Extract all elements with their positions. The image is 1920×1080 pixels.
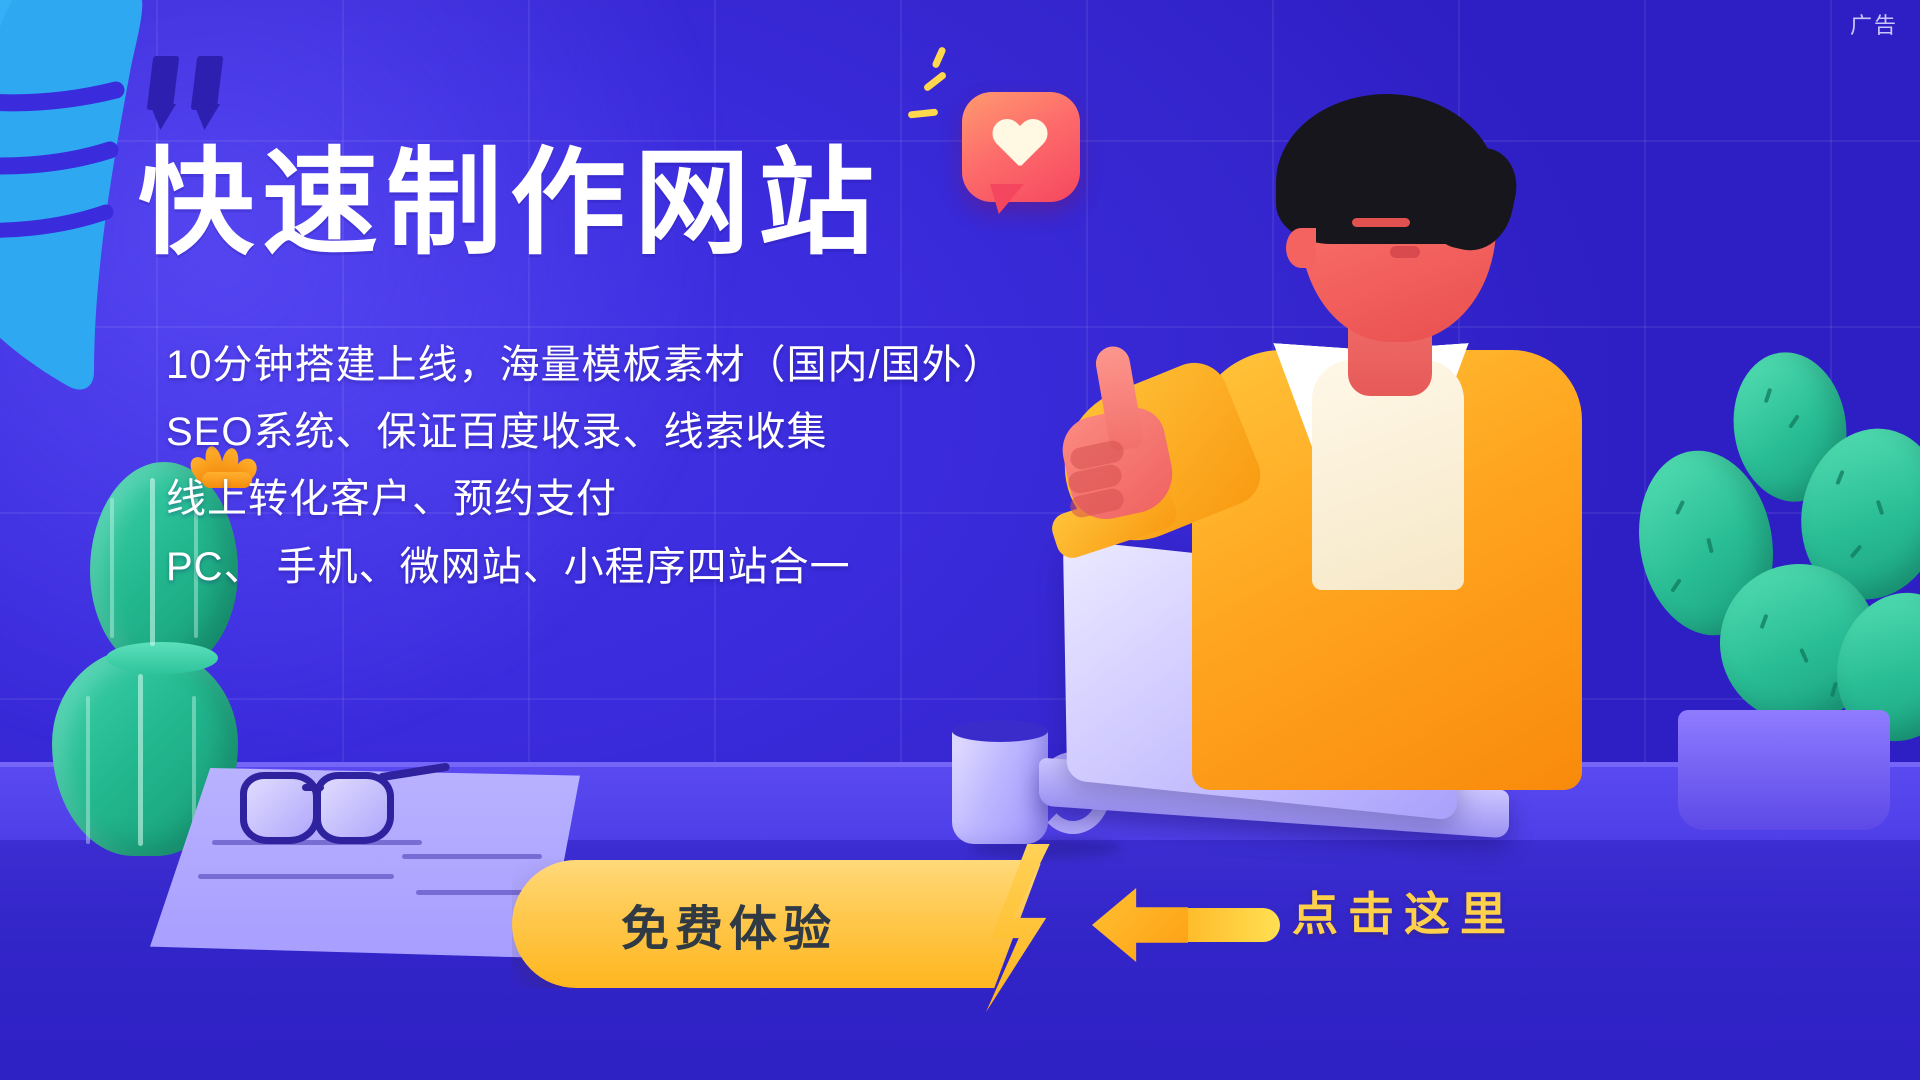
pointing-hand-icon bbox=[1048, 352, 1208, 542]
quotation-mark-icon bbox=[150, 56, 224, 126]
cta-group: 免费体验 点击这里 bbox=[512, 850, 1512, 1000]
eyeglasses-icon bbox=[240, 762, 440, 840]
page-title: 快速制作网站 bbox=[138, 142, 882, 265]
ad-label: 广告 bbox=[1850, 8, 1898, 40]
prickly-pear-cactus-icon bbox=[1616, 352, 1920, 822]
left-arrow-icon bbox=[1092, 888, 1278, 962]
click-here-hint: 点击这里 bbox=[1292, 878, 1516, 944]
heart-icon bbox=[992, 120, 1048, 170]
ad-banner[interactable]: 快速制作网站 10分钟搭建上线，海量模板素材（国内/国外） SEO系统、保证百度… bbox=[0, 0, 1920, 1080]
list-item: SEO系统、保证百度收录、线索收集 bbox=[166, 409, 996, 456]
list-item: 线上转化客户、预约支付 bbox=[166, 476, 996, 523]
plant-pot-icon bbox=[1678, 710, 1890, 830]
free-trial-button-label: 免费体验 bbox=[621, 889, 837, 959]
list-item: 10分钟搭建上线，海量模板素材（国内/国外） bbox=[166, 342, 996, 389]
free-trial-button[interactable]: 免费体验 bbox=[512, 860, 1042, 988]
feature-list: 10分钟搭建上线，海量模板素材（国内/国外） SEO系统、保证百度收录、线索收集… bbox=[166, 342, 996, 591]
list-item: PC、 手机、微网站、小程序四站合一 bbox=[166, 544, 996, 591]
illustration-person bbox=[1140, 60, 1610, 790]
